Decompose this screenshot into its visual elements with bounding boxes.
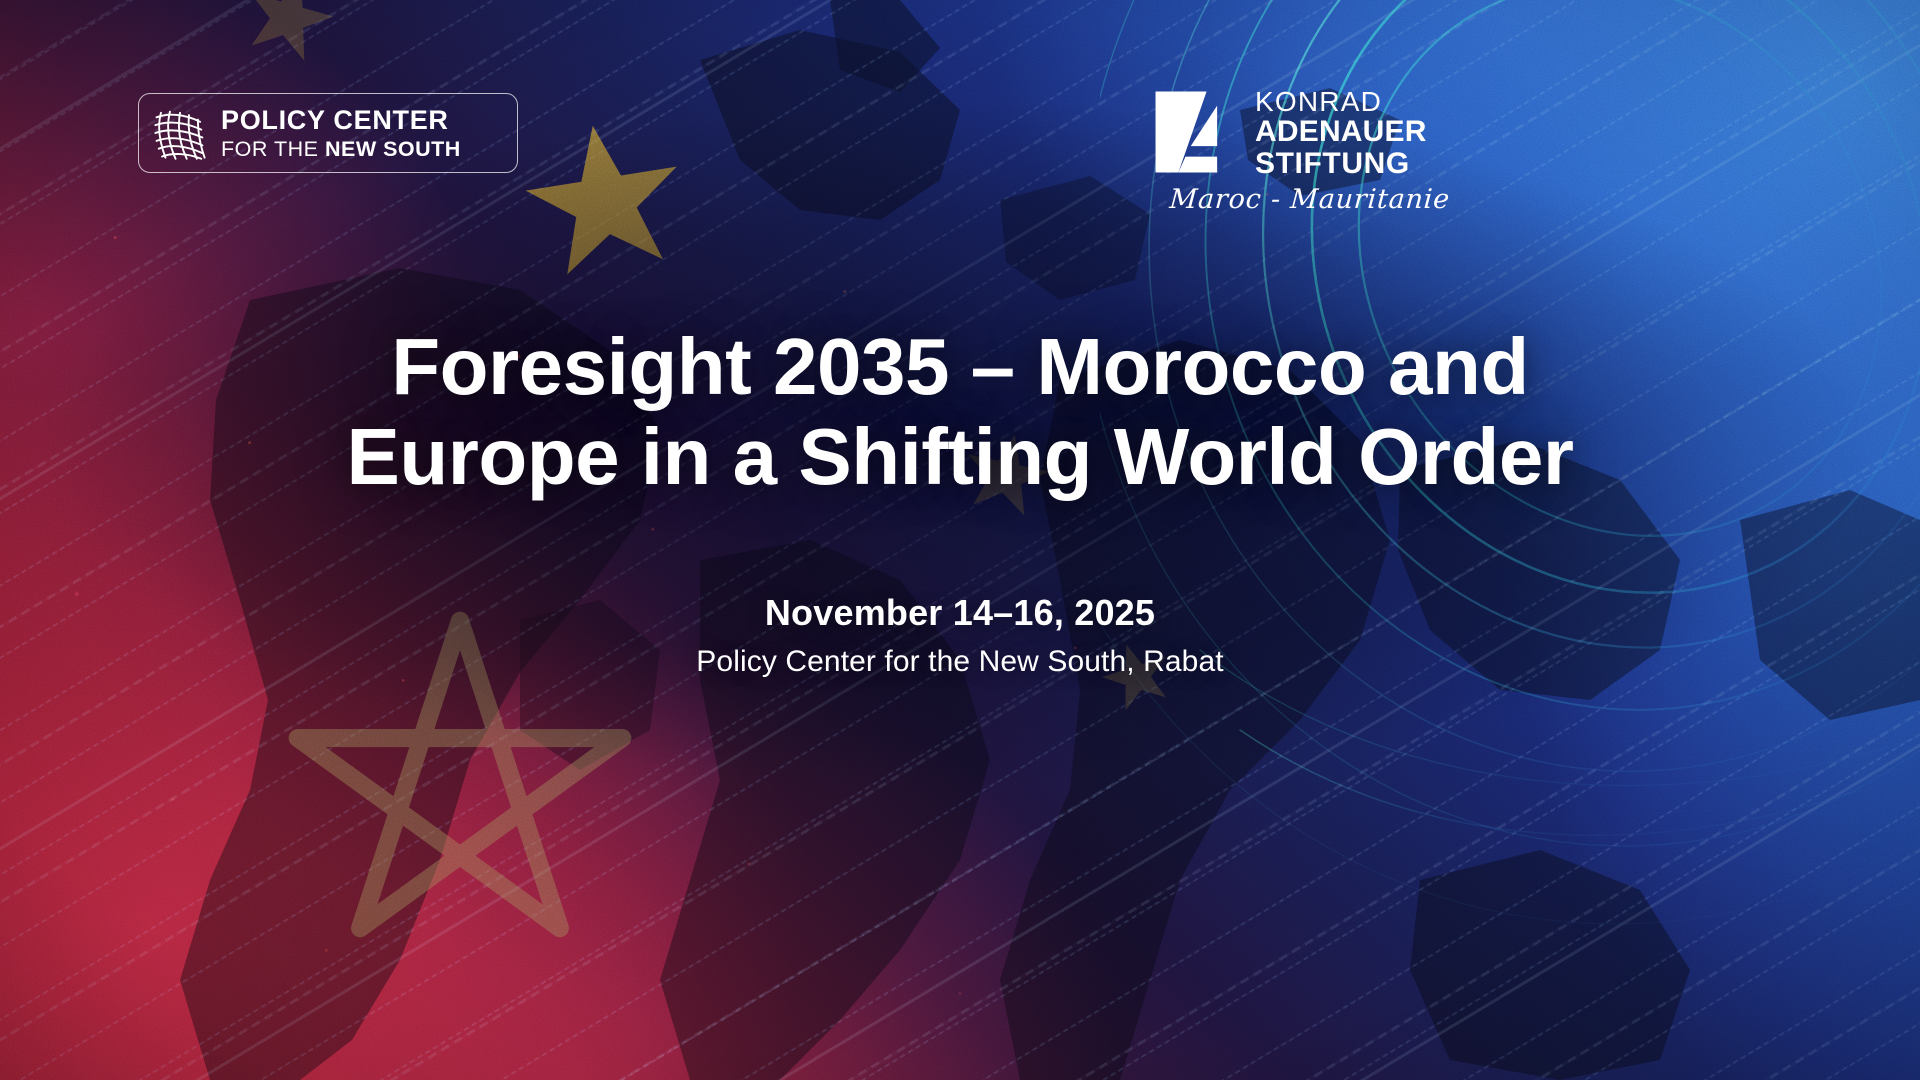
policy-center-wordmark: POLICY CENTER FOR THE NEW SOUTH xyxy=(221,106,461,161)
policy-center-line1: POLICY CENTER xyxy=(221,107,461,134)
konrad-adenauer-stiftung-logo[interactable]: KONRAD ADENAUER STIFTUNG Maroc - Maurita… xyxy=(1152,86,1452,198)
event-date: November 14–16, 2025 xyxy=(0,592,1920,634)
policy-center-line2: FOR THE NEW SOUTH xyxy=(221,139,461,161)
event-venue: Policy Center for the New South, Rabat xyxy=(0,644,1920,680)
event-title-line1: Foresight 2035 – Morocco and xyxy=(120,322,1800,412)
event-meta: November 14–16, 2025 Policy Center for t… xyxy=(0,592,1920,680)
kas-wordmark: KONRAD ADENAUER STIFTUNG xyxy=(1255,86,1427,178)
kas-line-adenauer: ADENAUER xyxy=(1255,117,1427,146)
banner-content: POLICY CENTER FOR THE NEW SOUTH xyxy=(0,0,1920,1080)
policy-center-line2-bold: NEW SOUTH xyxy=(325,137,461,161)
kas-country-subtitle: Maroc - Mauritanie xyxy=(1151,184,1453,215)
kas-a-mark-icon xyxy=(1152,88,1240,176)
event-banner: POLICY CENTER FOR THE NEW SOUTH xyxy=(0,0,1920,1080)
event-title: Foresight 2035 – Morocco and Europe in a… xyxy=(0,322,1920,502)
mesh-globe-icon xyxy=(152,105,208,161)
kas-logo-row: KONRAD ADENAUER STIFTUNG xyxy=(1152,86,1452,178)
kas-line-stiftung: STIFTUNG xyxy=(1255,149,1427,178)
policy-center-logo[interactable]: POLICY CENTER FOR THE NEW SOUTH xyxy=(138,93,518,173)
policy-center-line2-light: FOR THE xyxy=(221,137,325,161)
kas-line-konrad: KONRAD xyxy=(1255,88,1427,115)
event-title-line2: Europe in a Shifting World Order xyxy=(120,412,1800,502)
